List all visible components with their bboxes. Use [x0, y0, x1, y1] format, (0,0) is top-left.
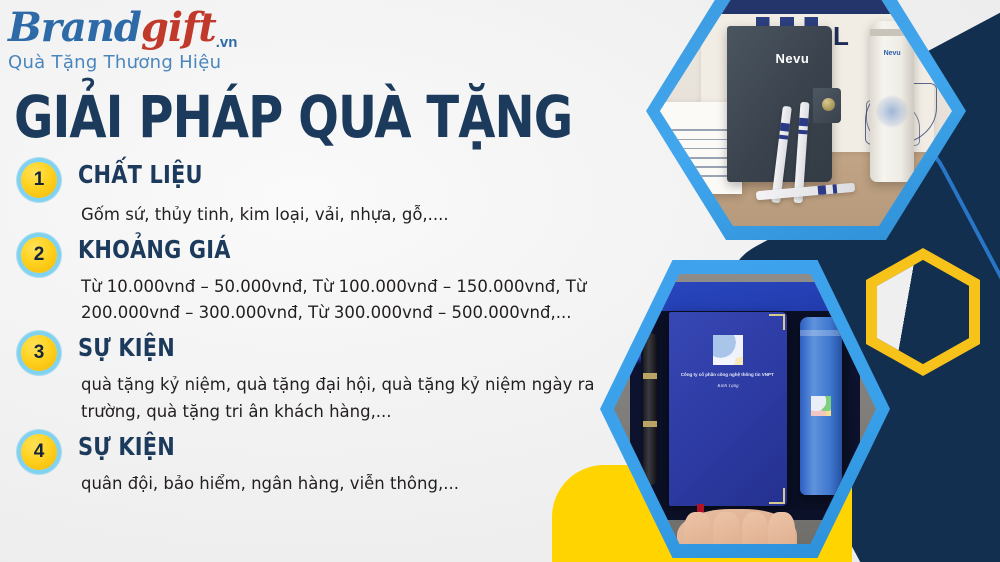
list-item-3: 3 SỰ KIỆN quà tặng kỷ niệm, quà tặng đại…	[0, 333, 620, 425]
badge-number-1: 1	[21, 162, 57, 198]
page-title: GIẢI PHÁP QUÀ TẶNG	[14, 88, 572, 146]
photo-flask-brand: Nevu	[884, 50, 901, 57]
photo-flask: Nevu	[870, 21, 914, 182]
photo-pen	[643, 333, 657, 484]
solution-list: 1 CHẤT LIỆU Gốm sứ, thủy tinh, kim loại,…	[0, 160, 620, 503]
list-item-desc-2: Từ 10.000vnđ – 50.000vnđ, Từ 100.000vnđ …	[81, 274, 601, 327]
list-item-title-4: SỰ KIỆN	[78, 432, 582, 462]
list-item-1: 1 CHẤT LIỆU Gốm sứ, thủy tinh, kim loại,…	[0, 160, 620, 229]
badge-number-4: 4	[21, 434, 57, 470]
logo-text-gift: gift	[141, 4, 216, 51]
logo-text-tld: .vn	[216, 34, 238, 51]
list-item-title-2: KHOẢNG GIÁ	[78, 235, 582, 265]
list-item-desc-3: quà tặng kỷ niệm, quà tặng đại hội, quà …	[81, 372, 601, 425]
clover-logo-icon	[713, 335, 743, 365]
slide-canvas: GL Nevu N	[0, 0, 1000, 562]
photo-book-line-1: Công ty cổ phần công nghệ thông tin VNPT…	[681, 372, 775, 377]
photo-book-line-2: Kính Tặng	[681, 384, 775, 389]
badge-number-2: 2	[21, 237, 57, 273]
list-item-4: 4 SỰ KIỆN quân đội, bảo hiểm, ngân hàng,…	[0, 432, 620, 498]
logo-text-brand: Brand	[8, 4, 141, 51]
hexagon-photo-top: GL Nevu N	[646, 0, 966, 240]
brand-logo[interactable]: Brandgift.vn Quà Tặng Thương Hiệu	[8, 4, 258, 73]
clover-logo-icon-flask	[811, 396, 831, 416]
photo-notebook-blue: Công ty cổ phần công nghệ thông tin VNPT…	[669, 312, 787, 506]
logo-tagline: Quà Tặng Thương Hiệu	[8, 52, 258, 73]
hexagon-photo-bottom: Công ty cổ phần công nghệ thông tin VNPT…	[600, 260, 890, 558]
list-item-title-3: SỰ KIỆN	[78, 333, 582, 363]
list-item-desc-1: Gốm sứ, thủy tinh, kim loại, vải, nhựa, …	[81, 202, 601, 229]
logo-wordmark: Brandgift.vn	[8, 4, 258, 50]
photo-flask-blue	[800, 317, 842, 495]
list-item-2: 2 KHOẢNG GIÁ Từ 10.000vnđ – 50.000vnđ, T…	[0, 235, 620, 327]
badge-number-3: 3	[21, 335, 57, 371]
list-item-title-1: CHẤT LIỆU	[78, 160, 582, 190]
photo-hand	[677, 509, 798, 544]
list-item-desc-4: quân đội, bảo hiểm, ngân hàng, viễn thôn…	[81, 471, 601, 498]
photo-notebook-brand: Nevu	[776, 51, 810, 66]
